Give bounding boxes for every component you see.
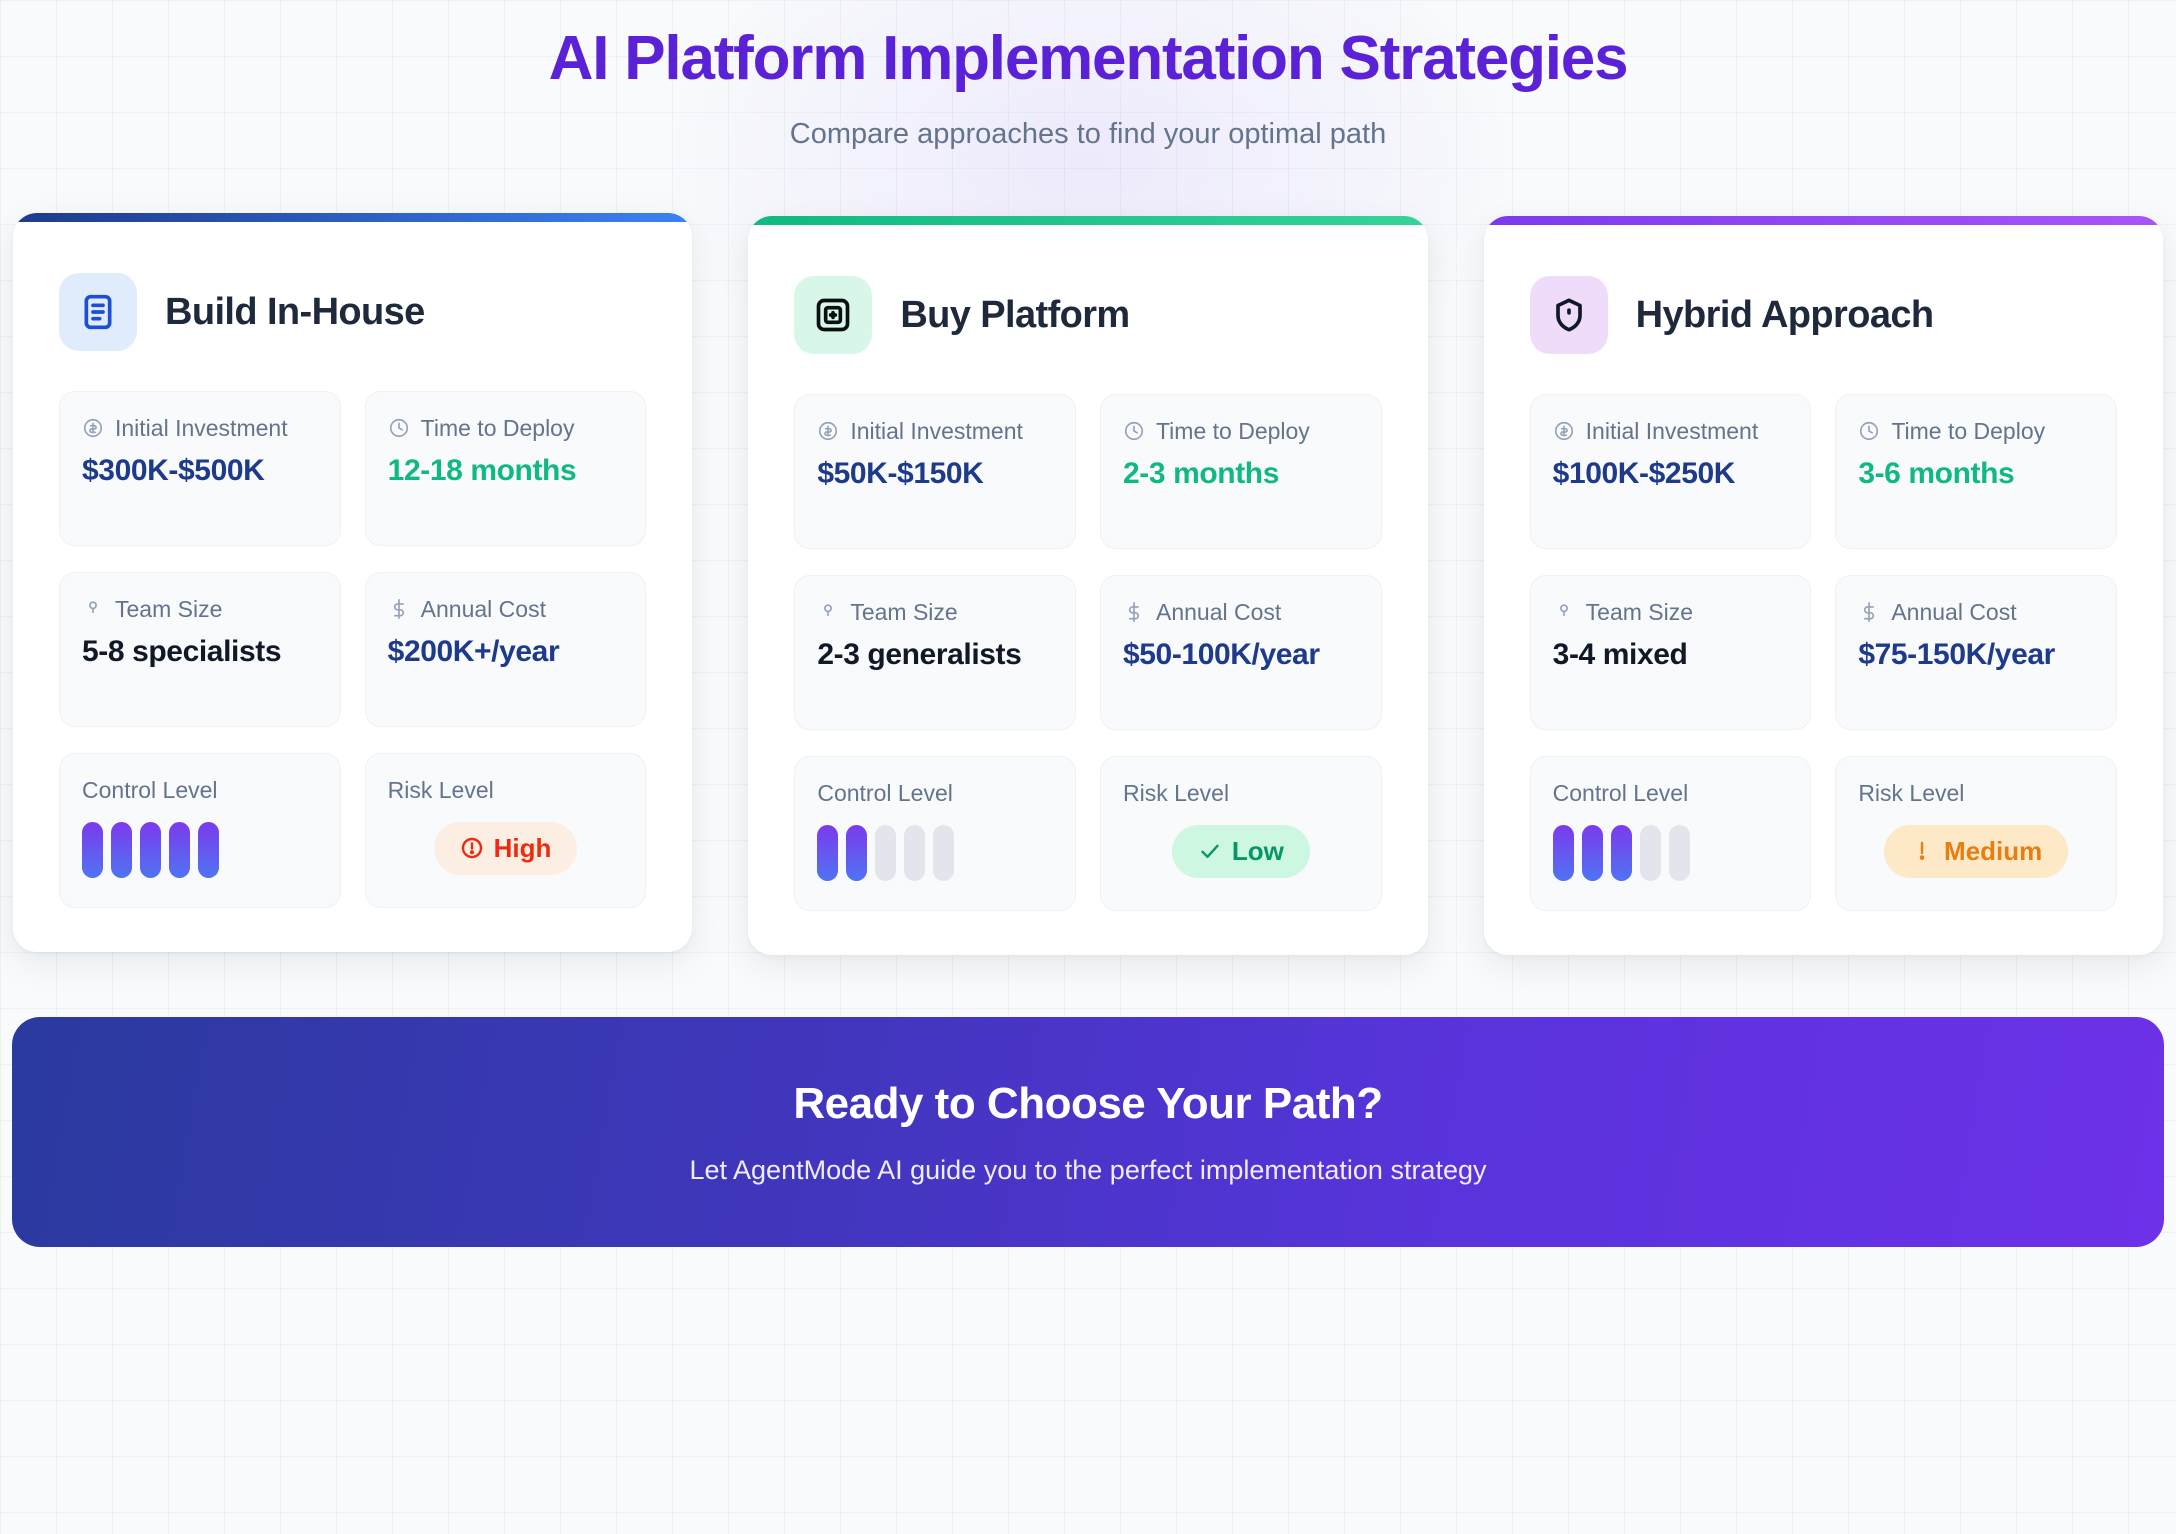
page-header: AI Platform Implementation Strategies Co… [12,0,2164,151]
control-level-pill [904,825,925,881]
exclamation-icon [1910,839,1934,863]
metric-label-text: Initial Investment [850,417,1023,446]
metric-label: Control Level [1553,779,1789,808]
metric-team-size: Team Size 2-3 generalists [794,575,1076,730]
metric-label-text: Annual Cost [1891,598,2016,627]
control-level-pill [169,822,190,878]
metric-control-level: Control Level [59,753,341,908]
metric-label: Annual Cost [1123,598,1359,630]
metric-label-text: Team Size [1586,598,1693,627]
metric-label: Annual Cost [1858,598,2094,630]
control-level-pill [817,825,838,881]
risk-badge-label: Low [1232,836,1284,867]
metric-time-to-deploy: Time to Deploy 2-3 months [1100,394,1382,549]
clock-icon [388,417,410,446]
status-badge: Medium [1884,825,2068,878]
metric-risk-level: Risk Level High [365,753,647,908]
control-level-pill [1669,825,1690,881]
metric-label-text: Annual Cost [1156,598,1281,627]
control-level-pill [198,822,219,878]
metric-label: Control Level [82,776,318,805]
metric-label: Risk Level [388,776,624,805]
metric-label: Team Size [1553,598,1789,630]
metrics-grid: Initial Investment $300K-$500K Time to D… [59,391,646,908]
metric-label: Time to Deploy [1123,417,1359,449]
control-level-pill [82,822,103,878]
page-title: AI Platform Implementation Strategies [12,24,2164,93]
metric-label-text: Time to Deploy [421,414,575,443]
metric-value: 2-3 generalists [817,637,1053,673]
metric-control-level: Control Level [1530,756,1812,911]
metric-value: $50K-$150K [817,456,1053,492]
metric-value: $100K-$250K [1553,456,1789,492]
metric-label-text: Team Size [115,595,222,624]
dollar-sign-icon [1123,601,1145,630]
metric-initial-investment: Initial Investment $300K-$500K [59,391,341,546]
metric-label-text: Annual Cost [421,595,546,624]
metric-annual-cost: Annual Cost $50-100K/year [1100,575,1382,730]
metric-label-text: Control Level [82,776,218,805]
metric-value: 2-3 months [1123,456,1359,492]
metric-label-text: Time to Deploy [1156,417,1310,446]
card-accent-bar [1484,216,2163,225]
control-level-bars [82,822,318,878]
metric-label-text: Control Level [1553,779,1689,808]
metric-label-text: Control Level [817,779,953,808]
metric-label-text: Risk Level [1123,779,1229,808]
metrics-grid: Initial Investment $100K-$250K Time to D… [1530,394,2117,911]
card-title: Buy Platform [900,294,1129,337]
metric-label: Risk Level [1858,779,2094,808]
metric-label: Risk Level [1123,779,1359,808]
page-root: AI Platform Implementation Strategies Co… [0,0,2176,1534]
metric-annual-cost: Annual Cost $75-150K/year [1835,575,2117,730]
strategy-card-build-in-house[interactable]: Build In-House Initial Investment $300K-… [13,213,692,952]
control-level-pill [933,825,954,881]
user-icon [817,601,839,630]
dollar-sign-icon [1858,601,1880,630]
control-level-pill [1640,825,1661,881]
metrics-grid: Initial Investment $50K-$150K Time to De… [794,394,1381,911]
card-accent-bar [13,213,692,222]
metric-time-to-deploy: Time to Deploy 12-18 months [365,391,647,546]
strategy-card-buy-platform[interactable]: Buy Platform Initial Investment $50K-$15… [748,216,1427,955]
control-level-pill [1582,825,1603,881]
control-level-bars [817,825,1053,881]
metric-label: Initial Investment [1553,417,1789,449]
metric-label: Initial Investment [817,417,1053,449]
package-box-icon [794,276,872,354]
card-header: Buy Platform [794,276,1381,354]
metric-label: Team Size [82,595,318,627]
clock-icon [1858,420,1880,449]
metric-label-text: Initial Investment [115,414,288,443]
metric-value: 3-6 months [1858,456,2094,492]
dollar-circle-icon [82,417,104,446]
dollar-sign-icon [388,598,410,627]
metric-annual-cost: Annual Cost $200K+/year [365,572,647,727]
dollar-circle-icon [817,420,839,449]
risk-badge-label: High [494,833,552,864]
metric-risk-level: Risk Level Medium [1835,756,2117,911]
metric-value: $75-150K/year [1858,637,2094,673]
clock-icon [1123,420,1145,449]
risk-badge-label: Medium [1944,836,2042,867]
risk-badge-wrap: Medium [1858,825,2094,878]
control-level-pill [1553,825,1574,881]
cta-banner[interactable]: Ready to Choose Your Path? Let AgentMode… [12,1017,2164,1247]
status-badge: Low [1172,825,1310,878]
metric-label-text: Team Size [850,598,957,627]
card-title: Hybrid Approach [1636,294,1934,337]
metric-label: Initial Investment [82,414,318,446]
metric-label: Time to Deploy [388,414,624,446]
page-subtitle: Compare approaches to find your optimal … [12,118,2164,151]
metric-value: $200K+/year [388,634,624,670]
dollar-circle-icon [1553,420,1575,449]
cta-subtitle: Let AgentMode AI guide you to the perfec… [689,1155,1486,1186]
check-icon [1198,839,1222,863]
metric-value: 3-4 mixed [1553,637,1789,673]
strategy-card-hybrid-approach[interactable]: Hybrid Approach Initial Investment $100K… [1484,216,2163,955]
control-level-bars [1553,825,1789,881]
card-accent-bar [748,216,1427,225]
user-icon [82,598,104,627]
metric-value: 5-8 specialists [82,634,318,670]
alert-circle-icon [460,836,484,860]
metric-initial-investment: Initial Investment $50K-$150K [794,394,1076,549]
cta-title: Ready to Choose Your Path? [793,1079,1382,1129]
metric-time-to-deploy: Time to Deploy 3-6 months [1835,394,2117,549]
control-level-pill [111,822,132,878]
metric-value: $50-100K/year [1123,637,1359,673]
control-level-pill [875,825,896,881]
metric-team-size: Team Size 3-4 mixed [1530,575,1812,730]
user-icon [1553,601,1575,630]
card-header: Hybrid Approach [1530,276,2117,354]
control-level-pill [1611,825,1632,881]
card-header: Build In-House [59,273,646,351]
document-server-icon [59,273,137,351]
metric-label: Team Size [817,598,1053,630]
risk-badge-wrap: High [388,822,624,875]
metric-value: 12-18 months [388,453,624,489]
metric-risk-level: Risk Level Low [1100,756,1382,911]
metric-label-text: Time to Deploy [1891,417,2045,446]
metric-label-text: Risk Level [388,776,494,805]
metric-control-level: Control Level [794,756,1076,911]
metric-label-text: Risk Level [1858,779,1964,808]
strategy-cards-row: Build In-House Initial Investment $300K-… [12,213,2164,955]
metric-label: Time to Deploy [1858,417,2094,449]
risk-badge-wrap: Low [1123,825,1359,878]
metric-label: Control Level [817,779,1053,808]
metric-initial-investment: Initial Investment $100K-$250K [1530,394,1812,549]
control-level-pill [140,822,161,878]
shield-icon [1530,276,1608,354]
metric-team-size: Team Size 5-8 specialists [59,572,341,727]
metric-label: Annual Cost [388,595,624,627]
metric-label-text: Initial Investment [1586,417,1759,446]
status-badge: High [434,822,578,875]
metric-value: $300K-$500K [82,453,318,489]
control-level-pill [846,825,867,881]
card-title: Build In-House [165,291,425,334]
